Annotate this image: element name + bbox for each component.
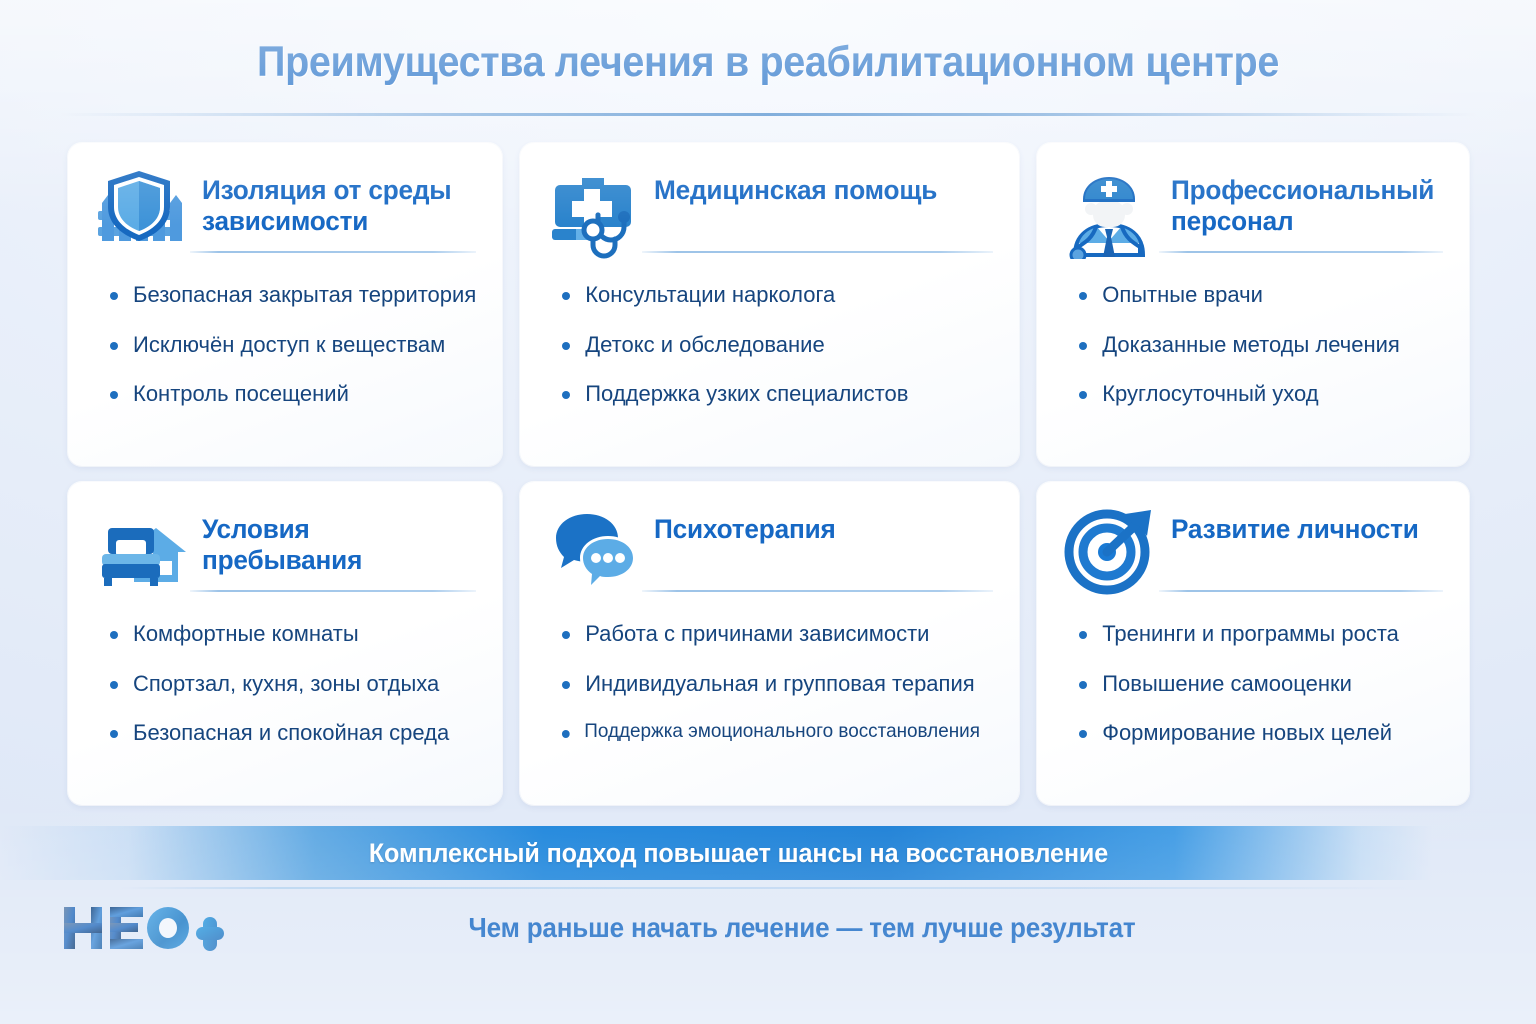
card-bullet-list: Тренинги и программы роста Повышение сам… — [1063, 622, 1442, 746]
list-item: Безопасная закрытая территория — [108, 283, 476, 308]
card-title: Профессиональный персонал — [1171, 167, 1434, 237]
neo-plus-logo — [58, 897, 248, 959]
card-header: Профессиональный персонал — [1063, 167, 1442, 259]
banner-underline — [120, 887, 1410, 889]
list-item: Безопасная и спокойная среда — [108, 721, 476, 746]
list-item: Тренинги и программы роста — [1077, 622, 1442, 647]
card-title: Изоляция от среды зависимости — [202, 167, 468, 237]
target-arrow-icon — [1063, 506, 1159, 598]
list-item: Комфортные комнаты — [108, 622, 476, 647]
benefit-card-staff: Профессиональный персонал Опытные врачи … — [1037, 143, 1468, 466]
benefit-card-psychotherapy: Психотерапия Работа с причинами зависимо… — [520, 482, 1019, 805]
card-rule — [190, 251, 476, 253]
card-title: Условия пребывания — [202, 506, 468, 576]
benefit-card-accommodation: Условия пребывания Комфортные комнаты Сп… — [68, 482, 502, 805]
list-item: Опытные врачи — [1077, 283, 1442, 308]
shield-fence-icon — [94, 167, 190, 259]
card-bullet-list: Безопасная закрытая территория Исключён … — [94, 283, 476, 407]
medical-bag-stethoscope-icon — [546, 167, 642, 259]
card-bullet-list: Комфортные комнаты Спортзал, кухня, зоны… — [94, 622, 476, 746]
benefits-grid: Изоляция от среды зависимости Безопасная… — [68, 143, 1468, 805]
card-header: Развитие личности — [1063, 506, 1442, 598]
list-item: Исключён доступ к веществам — [108, 333, 476, 358]
card-header: Условия пребывания — [94, 506, 476, 598]
banner-text: Комплексный подход повышает шансы на вос… — [369, 838, 1108, 869]
list-item: Консультации нарколога — [560, 283, 993, 308]
list-item: Индивидуальная и групповая терапия — [560, 672, 993, 697]
speech-bubbles-icon — [546, 506, 642, 598]
benefit-card-medical: Медицинская помощь Консультации нарколог… — [520, 143, 1019, 466]
list-item: Контроль посещений — [108, 382, 476, 407]
card-header: Медицинская помощь — [546, 167, 993, 259]
list-item: Поддержка эмоционального восстановления — [560, 721, 980, 743]
card-bullet-list: Опытные врачи Доказанные методы лечения … — [1063, 283, 1442, 407]
footer: Чем раньше начать лечение — тем лучше ре… — [0, 892, 1536, 964]
card-rule — [642, 251, 993, 253]
list-item: Поддержка узких специалистов — [560, 382, 993, 407]
benefit-card-personal-growth: Развитие личности Тренинги и программы р… — [1037, 482, 1468, 805]
list-item: Повышение самооценки — [1077, 672, 1442, 697]
card-header: Изоляция от среды зависимости — [94, 167, 476, 259]
list-item: Работа с причинами зависимости — [560, 622, 993, 647]
footer-tagline: Чем раньше начать лечение — тем лучше ре… — [287, 912, 1317, 944]
title-divider — [59, 113, 1477, 116]
card-rule — [1159, 251, 1442, 253]
list-item: Круглосуточный уход — [1077, 382, 1442, 407]
page-header: Преимущества лечения в реабилитационном … — [0, 0, 1536, 116]
card-rule — [642, 590, 993, 592]
card-bullet-list: Работа с причинами зависимости Индивидуа… — [546, 622, 993, 743]
list-item: Формирование новых целей — [1077, 721, 1442, 746]
bed-house-icon — [94, 506, 190, 598]
card-title: Медицинская помощь — [654, 167, 937, 206]
card-rule — [190, 590, 476, 592]
benefit-card-isolation: Изоляция от среды зависимости Безопасная… — [68, 143, 502, 466]
card-rule — [1159, 590, 1442, 592]
page-title: Преимущества лечения в реабилитационном … — [61, 38, 1474, 87]
doctor-icon — [1063, 167, 1159, 259]
list-item: Детокс и обследование — [560, 333, 993, 358]
card-title: Психотерапия — [654, 506, 836, 545]
card-header: Психотерапия — [546, 506, 993, 598]
list-item: Спортзал, кухня, зоны отдыха — [108, 672, 476, 697]
card-bullet-list: Консультации нарколога Детокс и обследов… — [546, 283, 993, 407]
card-title: Развитие личности — [1171, 506, 1419, 545]
list-item: Доказанные методы лечения — [1077, 333, 1442, 358]
summary-banner: Комплексный подход повышает шансы на вос… — [0, 826, 1432, 880]
